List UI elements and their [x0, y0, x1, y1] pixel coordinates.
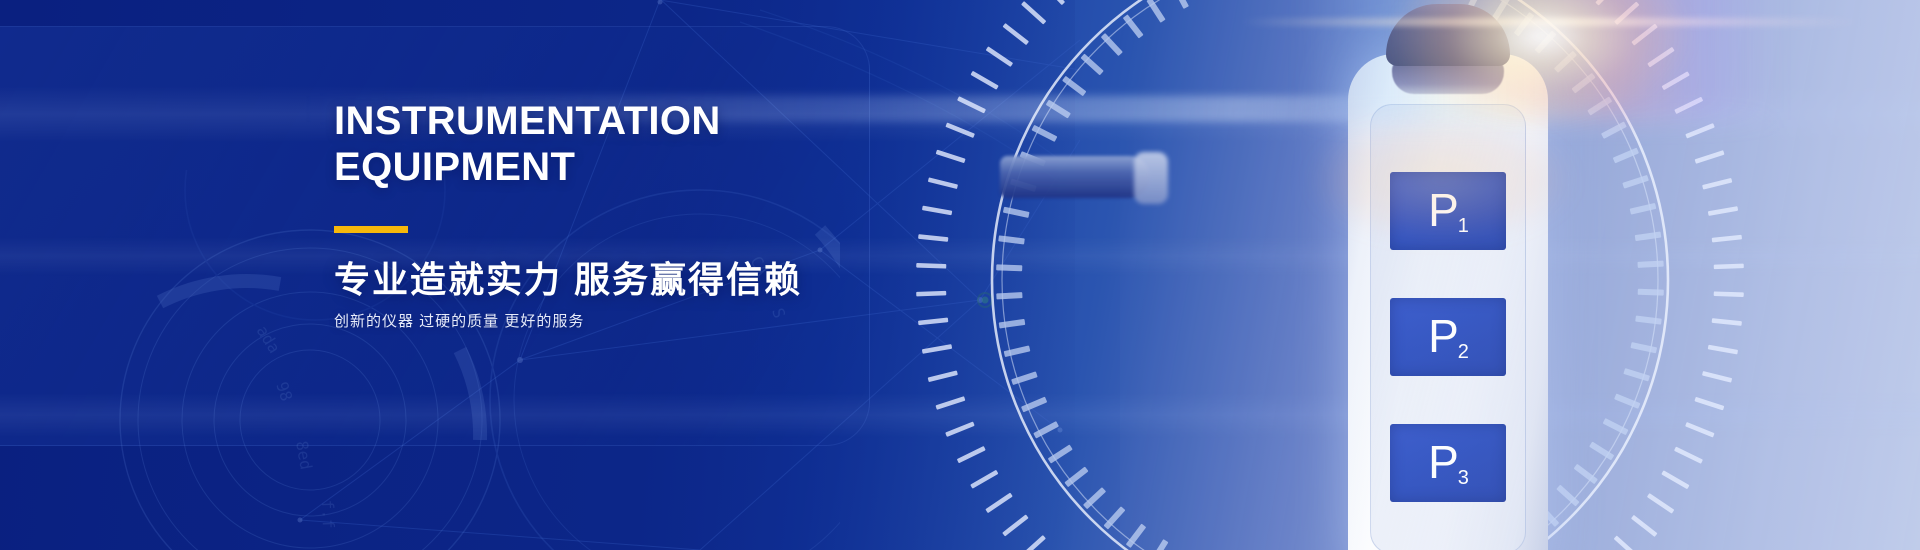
- accent-rule: [334, 226, 408, 233]
- subtitle-chinese: 创新的仪器 过硬的质量 更好的服务: [334, 311, 1094, 333]
- svg-text:98: 98: [272, 379, 296, 403]
- banner-copy: INSTRUMENTATION EQUIPMENT 专业造就实力 服务赢得信赖 …: [334, 98, 1094, 333]
- headline-chinese: 专业造就实力 服务赢得信赖: [334, 259, 1094, 301]
- hero-banner: ada 98 8ed f.f CA S: [0, 0, 1920, 550]
- svg-text:ada: ada: [253, 322, 284, 357]
- svg-text:f.f: f.f: [318, 499, 338, 529]
- lens-flare-warm: [1312, 120, 1572, 240]
- lens-flare-core: [1392, 0, 1692, 126]
- headline-english: INSTRUMENTATION EQUIPMENT: [334, 98, 1094, 190]
- headline-english-line2: EQUIPMENT: [334, 145, 575, 189]
- svg-text:8ed: 8ed: [292, 439, 316, 471]
- headline-english-line1: INSTRUMENTATION: [334, 99, 721, 143]
